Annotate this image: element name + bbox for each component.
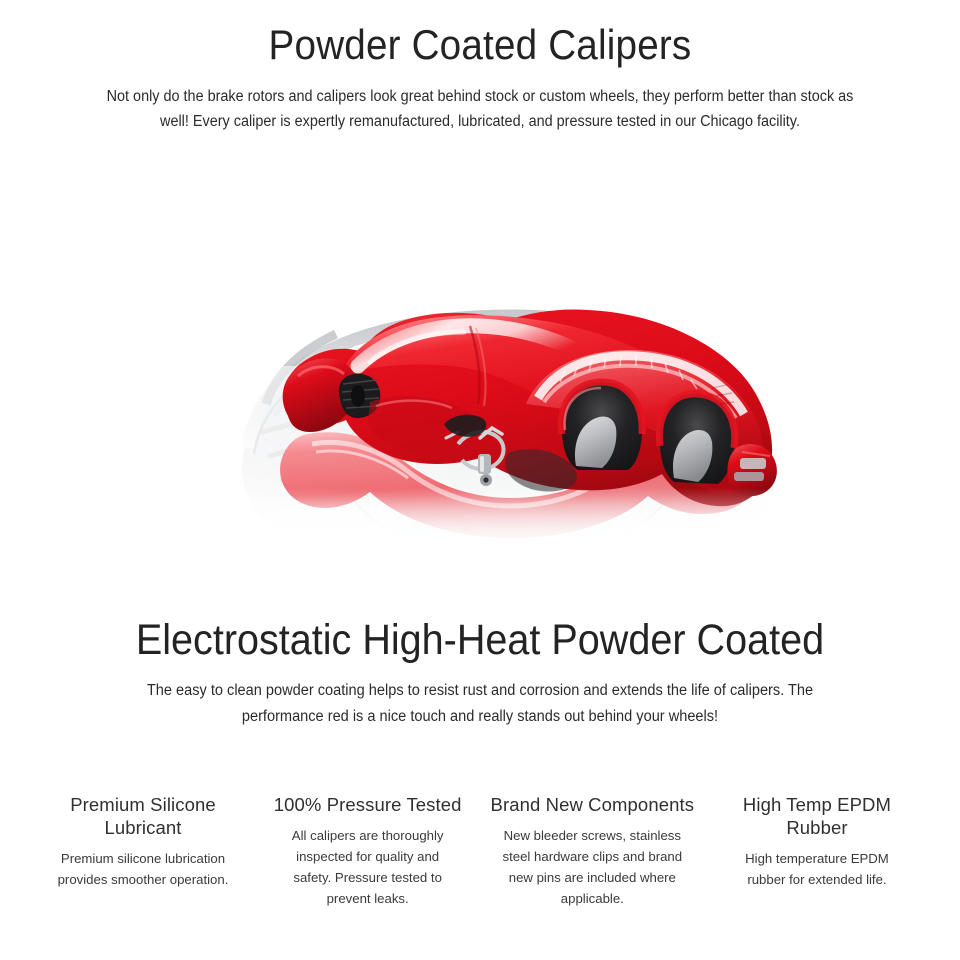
feature-title: 100% Pressure Tested [263, 793, 473, 816]
feature-description: New bleeder screws, stainless steel hard… [501, 825, 683, 909]
product-marketing-page: Powder Coated Calipers Not only do the b… [0, 0, 960, 960]
product-image [40, 166, 960, 566]
feature-description: Premium silicone lubrication provides sm… [52, 848, 234, 890]
feature-item-premium-silicone-lubricant: Premium Silicone Lubricant Premium silic… [38, 793, 248, 890]
page-title: Powder Coated Calipers [38, 0, 921, 70]
section-subtitle: The easy to clean powder coating helps t… [109, 678, 852, 730]
section-title: Electrostatic High-Heat Powder Coated [38, 612, 921, 668]
feature-title: High Temp EPDM Rubber [712, 793, 922, 839]
feature-title: Premium Silicone Lubricant [38, 793, 248, 839]
feature-list: Premium Silicone Lubricant Premium silic… [38, 793, 922, 909]
hero-subtitle: Not only do the brake rotors and caliper… [99, 84, 862, 134]
hero-section: Powder Coated Calipers Not only do the b… [0, 0, 960, 134]
feature-item-high-temp-epdm-rubber: High Temp EPDM Rubber High temperature E… [712, 793, 922, 890]
feature-title: Brand New Components [487, 793, 697, 816]
feature-item-brand-new-components: Brand New Components New bleeder screws,… [487, 793, 697, 909]
feature-description: High temperature EPDM rubber for extende… [726, 848, 908, 890]
caliper-illustration [40, 166, 960, 566]
powder-coat-section: Electrostatic High-Heat Powder Coated Th… [0, 612, 960, 730]
feature-description: All calipers are thoroughly inspected fo… [277, 825, 459, 909]
feature-item-pressure-tested: 100% Pressure Tested All calipers are th… [263, 793, 473, 909]
